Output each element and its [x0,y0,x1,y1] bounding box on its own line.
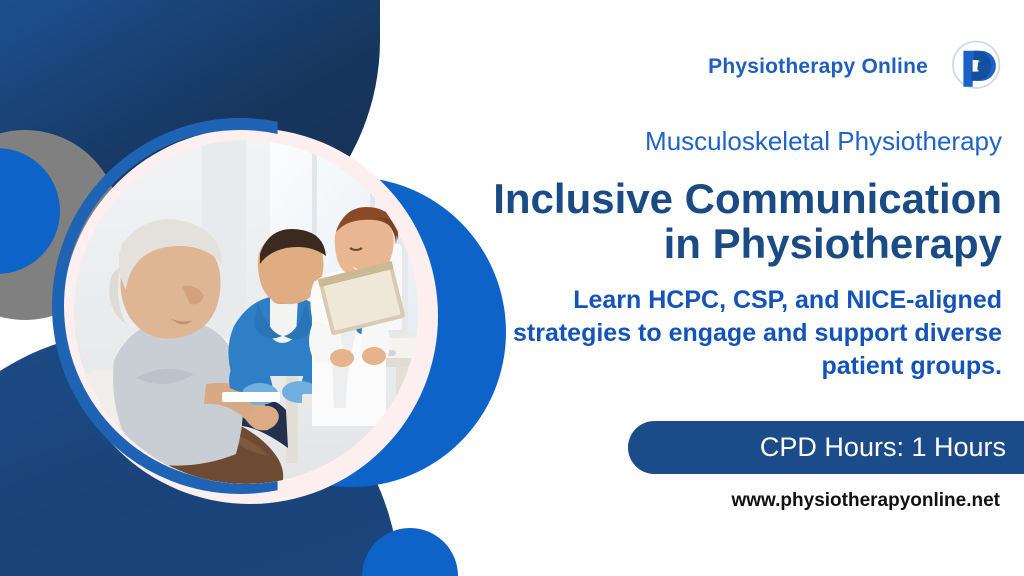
physiotherapy-p-logo-icon [946,38,1004,96]
course-description: Learn HCPC, CSP, and NICE-aligned strate… [462,284,1002,383]
brand-lockup: Physiotherapy Online [708,38,1004,96]
website-url: www.physiotherapyonline.net [732,490,1001,512]
accent-circle-left [0,148,60,274]
course-category: Musculoskeletal Physiotherapy [645,126,1002,157]
page-title: Inclusive Communication in Physiotherapy [362,176,1002,267]
cpd-hours-text: CPD Hours: 1 Hours [760,432,1006,463]
page-title-line-2: in Physiotherapy [362,221,1002,266]
brand-name: Physiotherapy Online [708,55,928,79]
poster-canvas: Physiotherapy Online Musculoskeletal Phy… [0,0,1024,576]
cpd-hours-badge: CPD Hours: 1 Hours [628,421,1024,474]
accent-circle-bottom [362,528,458,576]
page-title-line-1: Inclusive Communication [362,176,1002,221]
